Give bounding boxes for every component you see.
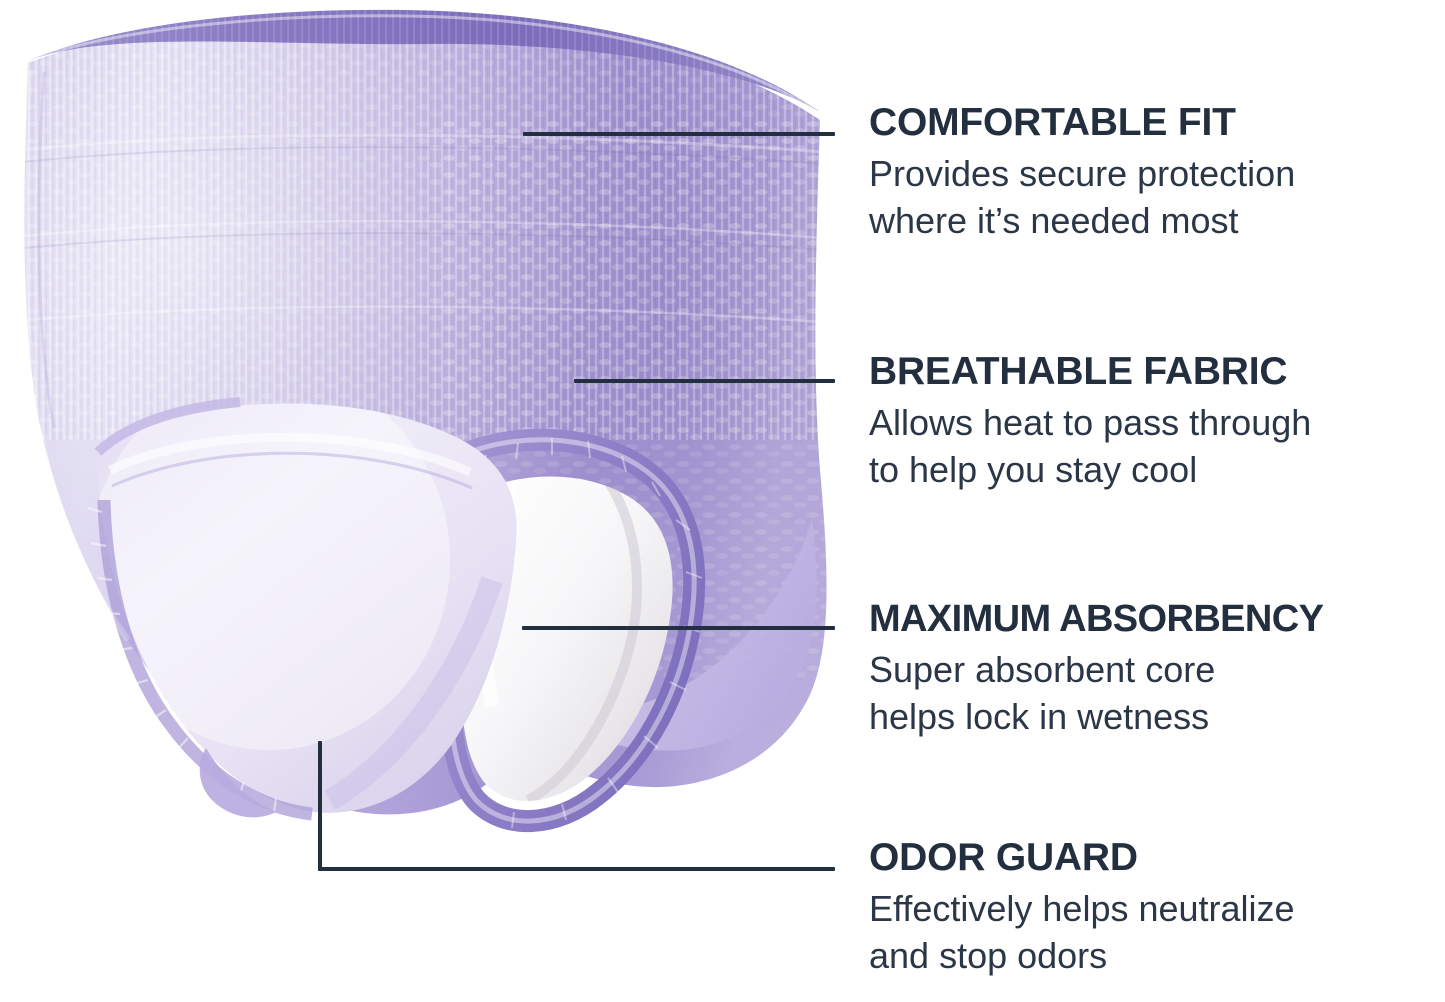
callout-odor-guard: ODOR GUARD Effectively helps neutralize …: [869, 838, 1445, 979]
product-feature-infographic: COMFORTABLE FIT Provides secure protecti…: [0, 0, 1445, 1002]
callout-body-line: helps lock in wetness: [869, 693, 1445, 740]
callout-comfortable-fit: COMFORTABLE FIT Provides secure protecti…: [869, 103, 1445, 244]
callout-body: Effectively helps neutralize and stop od…: [869, 885, 1445, 979]
callout-title: ODOR GUARD: [869, 838, 1445, 878]
callout-body-line: Allows heat to pass through: [869, 399, 1445, 446]
leader-line-comfortable-fit: [523, 132, 835, 136]
callout-maximum-absorbency: MAXIMUM ABSORBENCY Super absorbent core …: [869, 600, 1445, 740]
callout-body-line: where it’s needed most: [869, 197, 1445, 244]
leader-line-odor-guard-vertical: [318, 741, 322, 871]
callout-body: Super absorbent core helps lock in wetne…: [869, 646, 1445, 740]
leader-line-maximum-absorbency: [522, 626, 835, 630]
callout-body-line: Provides secure protection: [869, 150, 1445, 197]
callout-body: Allows heat to pass through to help you …: [869, 399, 1445, 493]
leader-line-odor-guard-horizontal: [318, 867, 835, 871]
callout-body: Provides secure protection where it’s ne…: [869, 150, 1445, 244]
callout-body-line: and stop odors: [869, 932, 1445, 979]
callout-title: MAXIMUM ABSORBENCY: [869, 600, 1445, 639]
callout-title: BREATHABLE FABRIC: [869, 352, 1445, 392]
callout-body-line: Super absorbent core: [869, 646, 1445, 693]
leader-line-breathable-fabric: [574, 379, 835, 383]
callout-body-line: Effectively helps neutralize: [869, 885, 1445, 932]
callout-title: COMFORTABLE FIT: [869, 103, 1445, 143]
callout-body-line: to help you stay cool: [869, 446, 1445, 493]
callout-breathable-fabric: BREATHABLE FABRIC Allows heat to pass th…: [869, 352, 1445, 493]
